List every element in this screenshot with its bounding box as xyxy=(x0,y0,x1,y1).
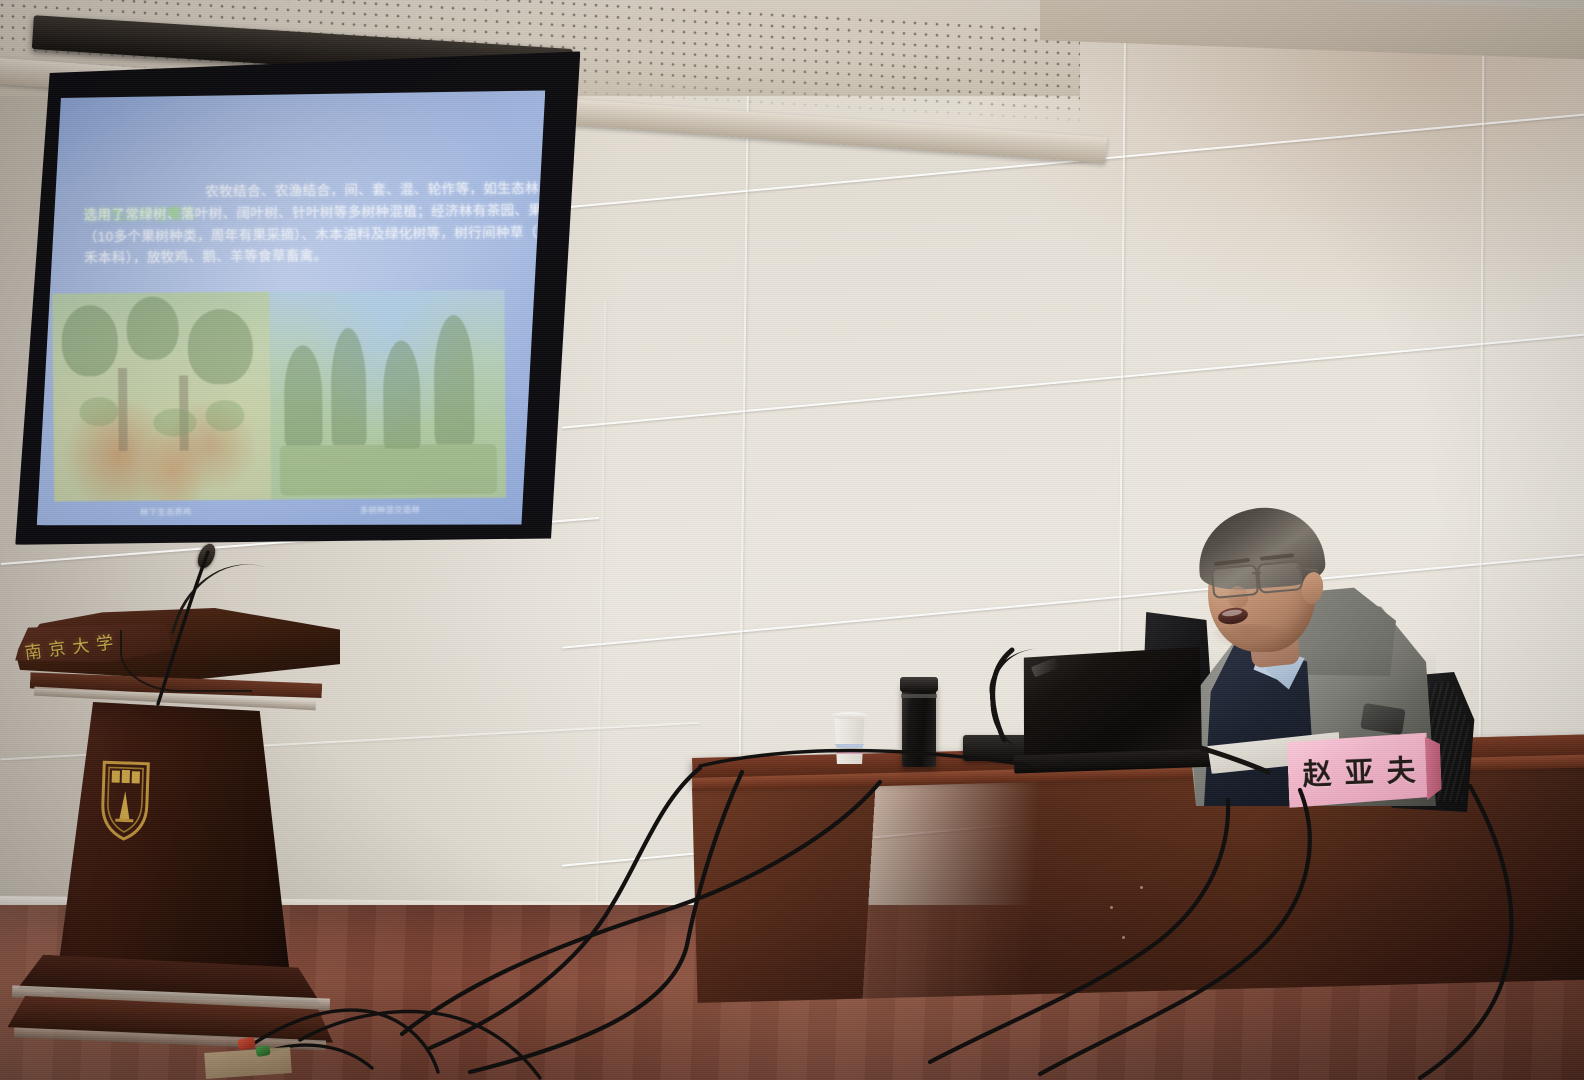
chin-shadow xyxy=(1210,624,1290,650)
screen-surface: 农牧结合、农渔结合，间、套、混、轮作等，如生态林 立体生态种植模式 选用了常绿树… xyxy=(34,77,546,538)
slide-photo-row xyxy=(52,290,506,502)
lectern-char-1: 南 xyxy=(23,636,43,663)
desk-speck xyxy=(1122,936,1125,939)
lecture-hall-photo: 农牧结合、农渔结合，间、套、混、轮作等，如生态林 立体生态种植模式 选用了常绿树… xyxy=(0,0,1584,1080)
name-placard-text: 赵 亚 夫 xyxy=(1295,743,1423,798)
lectern-column xyxy=(55,702,293,1002)
lectern-char-4: 学 xyxy=(94,628,114,655)
name-char-3: 夫 xyxy=(1386,747,1417,790)
projection-screen: 农牧结合、农渔结合，间、套、混、轮作等，如生态林 立体生态种植模式 选用了常绿树… xyxy=(11,23,580,557)
eyeglasses-lens-left xyxy=(1211,564,1260,599)
eyeglasses-lens-right xyxy=(1257,560,1303,594)
slide-line-1: 农牧结合、农渔结合，间、套、混、轮作等，如生态林 xyxy=(205,178,525,203)
university-crest-icon xyxy=(97,756,154,844)
paper-cup xyxy=(833,714,866,764)
name-placard-side xyxy=(1425,736,1443,803)
slide-photo-left xyxy=(52,292,271,502)
name-char-1: 赵 xyxy=(1302,750,1333,793)
thermos-cap xyxy=(900,677,938,692)
paper-cup-rim xyxy=(831,712,868,719)
thermos-ring xyxy=(901,694,937,698)
slide-caption-right: 多树种混交造林 xyxy=(360,504,420,516)
slide-caption-left: 林下生态养鸡 xyxy=(140,506,192,517)
name-char-2: 亚 xyxy=(1344,749,1375,792)
slide-line-5: 禾本科），放牧鸡、鹅、羊等食草畜禽。 xyxy=(84,243,526,269)
paper-cup-stripe-blue xyxy=(834,744,865,748)
lectern-char-3: 大 xyxy=(71,631,91,658)
lectern-char-2: 京 xyxy=(47,634,67,661)
name-placard: 赵 亚 夫 xyxy=(1287,732,1443,810)
desk-speck xyxy=(1140,886,1143,889)
slide-text-block: 农牧结合、农渔结合，间、套、混、轮作等，如生态林 立体生态种植模式 选用了常绿树… xyxy=(83,178,526,270)
paper-cup-stripe-pink xyxy=(834,750,865,754)
slide-photo-right xyxy=(269,290,506,500)
desk-speck xyxy=(1110,906,1113,909)
